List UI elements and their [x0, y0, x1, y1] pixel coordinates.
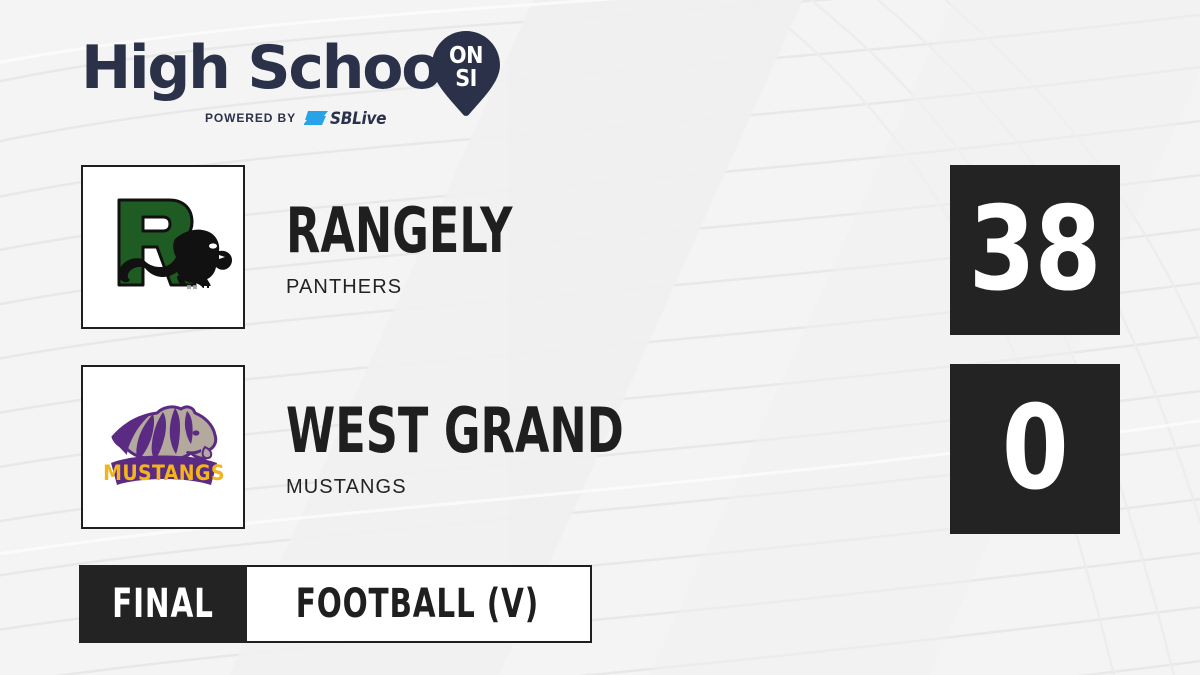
rangely-panthers-logo-icon	[83, 167, 243, 327]
scoreboard-graphic: High School ON SI POWERED BY SBLive	[0, 0, 1200, 675]
status-label: FINAL	[112, 584, 214, 624]
on-si-pin-icon: ON SI	[430, 29, 502, 117]
status-badge: FINAL	[79, 565, 247, 643]
team-text: WEST GRAND MUSTANGS	[286, 365, 708, 533]
team-name: WEST GRAND	[286, 400, 624, 462]
team-logo-box: MUSTANGS	[81, 365, 245, 529]
team-logo-box	[81, 165, 245, 329]
team-score: 0	[1002, 391, 1068, 507]
team-score: 38	[969, 192, 1101, 308]
powered-by-label: POWERED BY	[205, 108, 296, 128]
sblive-logo-icon: SBLive	[304, 108, 408, 128]
sport-label: FOOTBALL (V)	[296, 584, 539, 624]
brand-wordmark: High School	[81, 33, 459, 103]
on-si-badge-bottom: SI	[455, 66, 477, 92]
brand-lockup: High School ON SI POWERED BY SBLive	[81, 33, 511, 133]
team-score-box: 0	[950, 364, 1120, 534]
powered-by-row: POWERED BY SBLive	[205, 108, 408, 128]
mustangs-banner-text: MUSTANGS	[103, 461, 225, 485]
team-score-box: 38	[950, 165, 1120, 335]
status-bar: FINAL FOOTBALL (V)	[79, 565, 592, 643]
team-mascot: MUSTANGS	[286, 476, 708, 498]
sblive-wordmark: SBLive	[330, 109, 386, 128]
team-name: RANGELY	[286, 200, 512, 262]
team-mascot: PANTHERS	[286, 276, 569, 298]
sport-badge: FOOTBALL (V)	[247, 565, 592, 643]
west-grand-mustangs-logo-icon: MUSTANGS	[83, 367, 243, 527]
team-text: RANGELY PANTHERS	[286, 165, 569, 333]
